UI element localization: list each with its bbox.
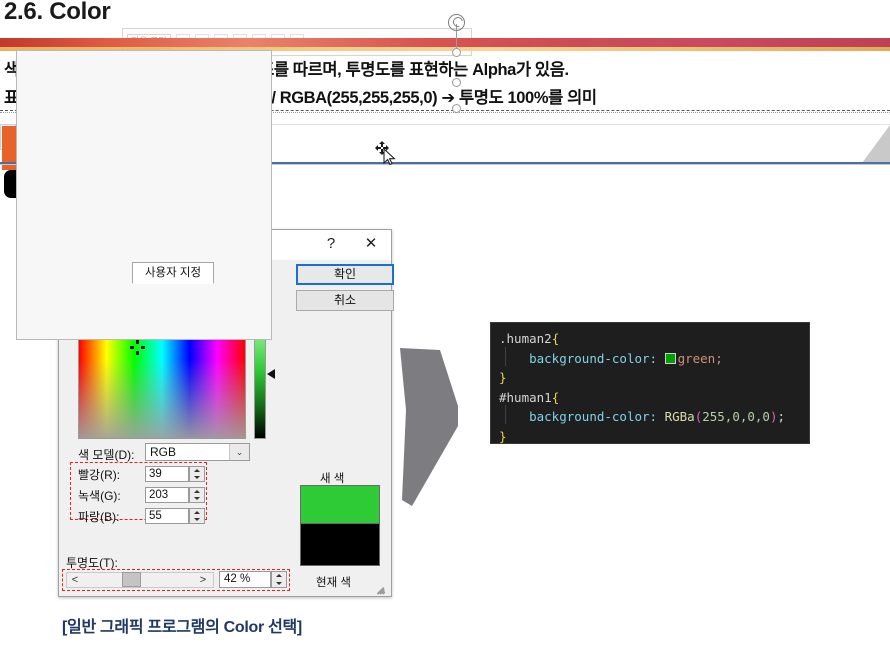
new-color-label: 새 색 <box>320 470 344 486</box>
transparency-stepper[interactable] <box>271 571 287 588</box>
close-icon[interactable]: ✕ <box>356 233 386 255</box>
code-property-1: background-color: <box>529 351 657 366</box>
transparency-input[interactable]: 42 % <box>219 571 271 588</box>
code-property-2: background-color: <box>529 409 657 424</box>
code-semicolon: ; <box>777 409 785 424</box>
code-brace-close-1: } <box>499 370 507 385</box>
code-brace-open-1: { <box>552 331 560 346</box>
code-brace-close-2: } <box>499 429 507 444</box>
code-line-3: } <box>499 368 809 388</box>
blue-channel-stepper[interactable] <box>189 508 205 524</box>
transparency-slider-thumb[interactable] <box>122 572 141 587</box>
color-picker-crosshair-icon[interactable] <box>130 340 145 355</box>
current-color-swatch <box>300 524 380 566</box>
red-channel-label: 빨강(R): <box>78 466 120 483</box>
green-channel-input[interactable]: 203 <box>145 487 189 503</box>
slider-increment-icon[interactable]: > <box>196 573 210 587</box>
tab-custom[interactable]: 사용자 지정 <box>132 262 214 284</box>
move-cursor-icon <box>374 140 400 166</box>
code-selector-2: #human1 <box>499 390 552 405</box>
chevron-down-icon[interactable]: ⌄ <box>229 444 249 460</box>
inline-color-swatch-icon <box>665 353 676 364</box>
resize-grip-icon[interactable] <box>374 580 388 594</box>
blue-channel-label: 파랑(B): <box>78 508 119 525</box>
code-function-name: RGBa <box>665 409 695 424</box>
code-snippet: .human2{ background-color: green; } #hum… <box>490 322 810 444</box>
selection-handle-middle[interactable] <box>452 78 461 87</box>
current-color-label: 현재 색 <box>316 574 351 590</box>
code-function-args: 255,0,0,0 <box>702 409 770 424</box>
luminance-marker-icon[interactable] <box>267 369 275 379</box>
page-title: 2.6. Color <box>4 0 110 26</box>
blue-channel-input[interactable]: 55 <box>145 508 189 524</box>
slider-decrement-icon[interactable]: < <box>68 573 82 587</box>
new-color-swatch <box>300 485 380 524</box>
code-line-5: background-color: RGBa(255,0,0,0); <box>499 407 809 427</box>
red-channel-stepper[interactable] <box>189 466 205 482</box>
code-selector-1: .human2 <box>499 331 552 346</box>
code-line-6: } <box>499 427 809 447</box>
red-channel-input[interactable]: 39 <box>145 466 189 482</box>
code-line-1: .human2{ <box>499 329 809 349</box>
green-channel-stepper[interactable] <box>189 487 205 503</box>
code-brace-open-2: { <box>552 390 560 405</box>
help-icon[interactable]: ? <box>318 233 344 255</box>
ok-button[interactable]: 확인 <box>296 264 394 285</box>
title-rule-gradient <box>0 38 890 47</box>
color-model-label: 색 모델(D): <box>78 446 134 463</box>
selection-handle-bottom[interactable] <box>452 104 461 113</box>
code-line-4: #human1{ <box>499 388 809 408</box>
rotate-handle-icon[interactable] <box>448 14 465 31</box>
banner-corner-triangle <box>862 125 890 163</box>
code-line-2: background-color: green; <box>499 349 809 369</box>
green-channel-label: 녹색(G): <box>78 487 121 504</box>
dialog-tab-panel <box>16 50 272 340</box>
flow-arrow-icon <box>398 348 490 506</box>
selection-handle-top[interactable] <box>452 48 461 57</box>
code-value-green: green; <box>678 351 723 366</box>
figure-caption: [일반 그래픽 프로그램의 Color 선택] <box>62 613 302 637</box>
cancel-button[interactable]: 취소 <box>296 290 394 311</box>
